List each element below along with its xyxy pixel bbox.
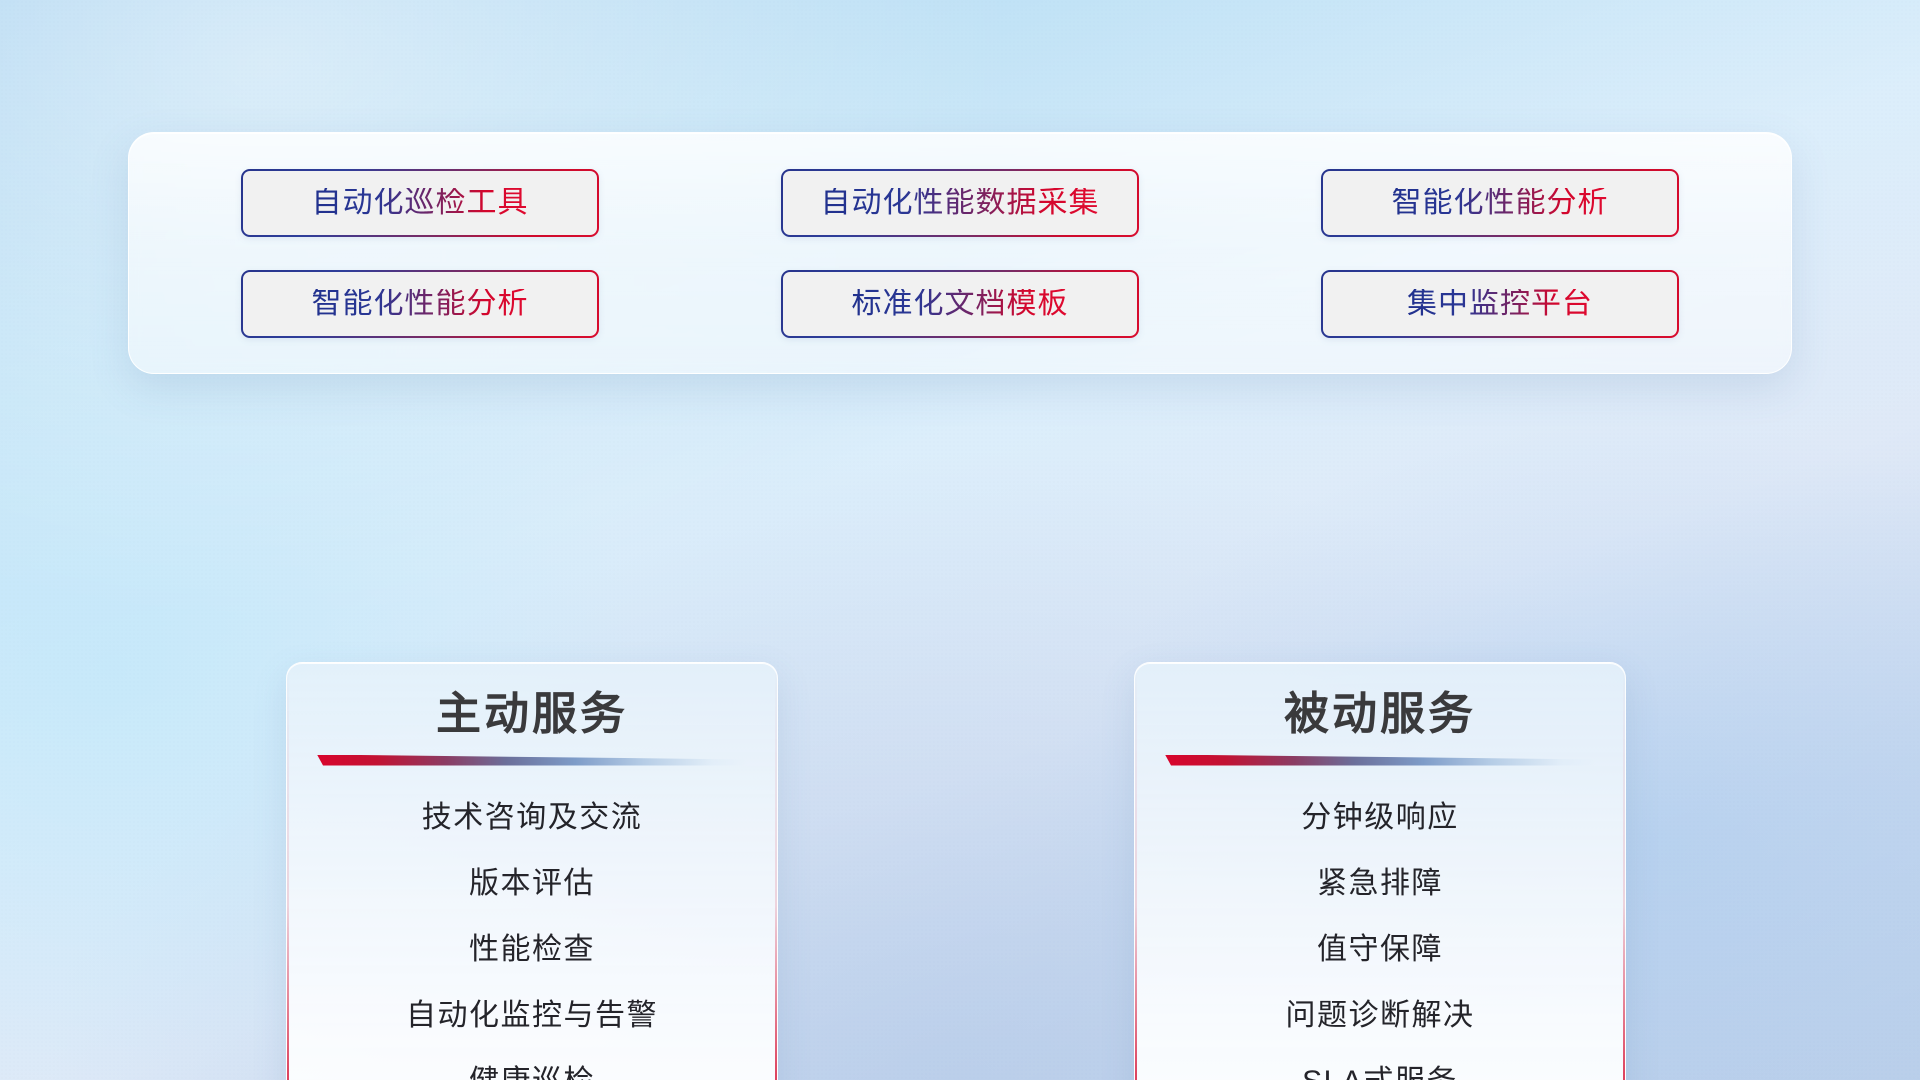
slide-canvas: 自动化巡检工具 自动化性能数据采集 智能化性能分析 智能化性能分析 标准化文档模… (0, 0, 1920, 1080)
service-list-item[interactable]: 分钟级响应 (1135, 790, 1625, 846)
capability-pill-1[interactable]: 自动化巡检工具 (241, 169, 599, 237)
capability-pill-label: 自动化性能数据采集 (821, 188, 1100, 218)
capability-pill-3[interactable]: 智能化性能分析 (1321, 169, 1679, 237)
title-underline-accent (317, 755, 747, 766)
capability-pill-label: 智能化性能分析 (1392, 188, 1609, 218)
capability-pill-label: 自动化巡检工具 (312, 188, 529, 218)
service-cards-row: 主动服务 技术咨询及交流 版本评估 性能检查 自动化监控与告警 健康巡检 被动服… (0, 662, 1920, 1080)
service-card-active[interactable]: 主动服务 技术咨询及交流 版本评估 性能检查 自动化监控与告警 健康巡检 (286, 662, 778, 1080)
title-underline-accent (1165, 755, 1595, 766)
capability-pill-6[interactable]: 集中监控平台 (1321, 270, 1679, 338)
service-list-item[interactable]: 性能检查 (287, 922, 777, 978)
service-list-item[interactable]: SLA式服务 (1135, 1054, 1625, 1080)
service-list-item[interactable]: 值守保障 (1135, 922, 1625, 978)
capability-panel: 自动化巡检工具 自动化性能数据采集 智能化性能分析 智能化性能分析 标准化文档模… (128, 132, 1792, 374)
service-card-title: 主动服务 (287, 689, 777, 739)
service-list-item[interactable]: 技术咨询及交流 (287, 790, 777, 846)
capability-pill-label: 集中监控平台 (1407, 289, 1593, 319)
service-list-item[interactable]: 健康巡检 (287, 1054, 777, 1080)
service-list-item[interactable]: 自动化监控与告警 (287, 988, 777, 1044)
service-item-list: 分钟级响应 紧急排障 值守保障 问题诊断解决 SLA式服务 (1135, 790, 1625, 1080)
service-list-item[interactable]: 紧急排障 (1135, 856, 1625, 912)
service-item-list: 技术咨询及交流 版本评估 性能检查 自动化监控与告警 健康巡检 (287, 790, 777, 1080)
service-list-item[interactable]: 问题诊断解决 (1135, 988, 1625, 1044)
capability-pill-label: 智能化性能分析 (312, 289, 529, 319)
service-list-item[interactable]: 版本评估 (287, 856, 777, 912)
service-card-passive[interactable]: 被动服务 分钟级响应 紧急排障 值守保障 问题诊断解决 SLA式服务 (1134, 662, 1626, 1080)
capability-pill-label: 标准化文档模板 (852, 289, 1069, 319)
capability-pill-4[interactable]: 智能化性能分析 (241, 270, 599, 338)
capability-pill-2[interactable]: 自动化性能数据采集 (781, 169, 1139, 237)
service-card-title: 被动服务 (1135, 689, 1625, 739)
capability-pill-5[interactable]: 标准化文档模板 (781, 270, 1139, 338)
